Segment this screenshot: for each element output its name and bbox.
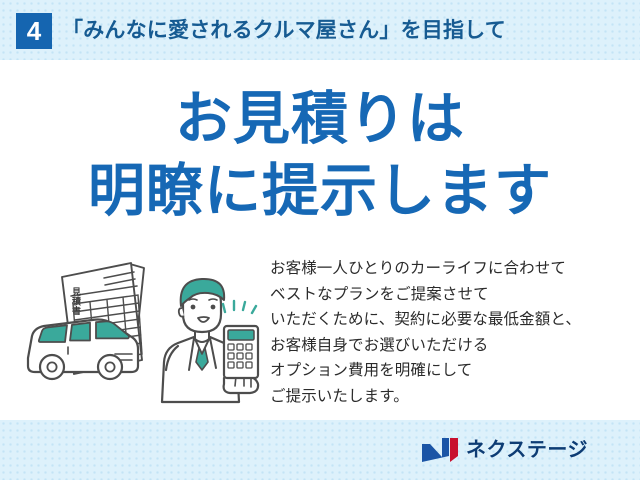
body-line: オプション費用を明確にして <box>270 358 620 384</box>
headline-line-2: 明瞭に提示します <box>0 160 640 222</box>
body-line: ご提示いたします。 <box>270 384 620 410</box>
illustration-salesman-quote-van: 見積書 <box>18 250 270 410</box>
footer-bar: ネクステージ <box>0 420 640 480</box>
calculator-icon <box>224 326 258 378</box>
section-number-badge: 4 <box>16 13 52 49</box>
body-line: お客様一人ひとりのカーライフに合わせて <box>270 256 620 282</box>
body-line: お客様自身でお選びいただける <box>270 333 620 359</box>
slide-canvas: 4 「みんなに愛されるクルマ屋さん」を目指して お見積りは 明瞭に提示します お… <box>0 0 640 480</box>
header-bar: 4 「みんなに愛されるクルマ屋さん」を目指して <box>0 0 640 60</box>
headline-line-1: お見積りは <box>0 88 640 150</box>
sparkle-icon <box>223 301 256 313</box>
nextage-n-logo-icon <box>421 437 459 463</box>
body-line: いただくために、契約に必要な最低金額と、 <box>270 307 620 333</box>
brand-logo: ネクステージ <box>421 434 588 466</box>
body-paragraph: お客様一人ひとりのカーライフに合わせて ベストなプランをご提案させて いただくた… <box>270 256 620 409</box>
header-title: 「みんなに愛されるクルマ屋さん」を目指して <box>62 14 506 48</box>
content-panel: お見積りは 明瞭に提示します お客様一人ひとりのカーライフに合わせて ベストなプ… <box>0 60 640 420</box>
body-line: ベストなプランをご提案させて <box>270 282 620 308</box>
brand-logo-text: ネクステージ <box>466 437 588 463</box>
